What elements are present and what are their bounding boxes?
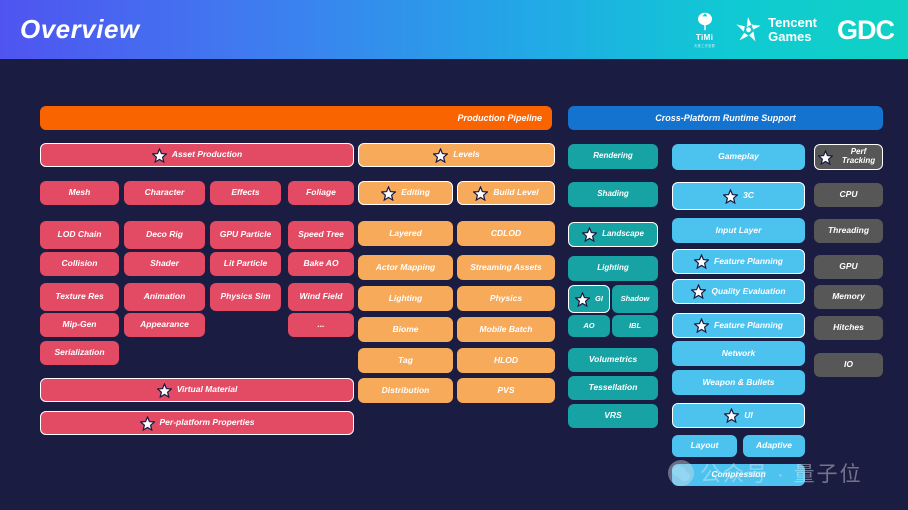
asset-node-character[interactable]: Character <box>124 181 205 205</box>
tencent-pinwheel-icon <box>735 15 763 45</box>
gameplay-node-adaptive-label: Adaptive <box>756 441 792 451</box>
asset-node-mesh[interactable]: Mesh <box>40 181 119 205</box>
star-icon <box>818 150 833 165</box>
gameplay-node-compression-label: Compression <box>711 470 765 480</box>
rendering-node-volumetrics[interactable]: Volumetrics <box>568 348 658 372</box>
tencent-line-2: Games <box>768 30 817 44</box>
slide-canvas: Overview TiMi 天美工作室群 <box>0 0 908 510</box>
perf-node-threading-label: Threading <box>828 226 869 236</box>
gameplay-node-compression[interactable]: Compression <box>672 464 805 486</box>
star-icon <box>157 383 172 398</box>
asset-node-collision-label: Collision <box>62 259 98 269</box>
gameplay-node-layout-label: Layout <box>691 441 719 451</box>
levels-node-tag[interactable]: Tag <box>358 348 453 373</box>
star-icon <box>723 189 738 204</box>
asset-node-bake-ao-label: Bake AO <box>303 259 338 269</box>
levels-node-distribution[interactable]: Distribution <box>358 378 453 403</box>
asset-node-lod-chain-label: LOD Chain <box>58 230 102 240</box>
timi-sublabel: 天美工作室群 <box>694 43 715 48</box>
star-icon <box>694 254 709 269</box>
perf-node-threading[interactable]: Threading <box>814 219 883 243</box>
perf-node-gpu[interactable]: GPU <box>814 255 883 279</box>
pipeline-footer-per-platform-properties[interactable]: Per-platform Properties <box>40 411 354 435</box>
rendering-node-vrs-label: VRS <box>604 411 621 421</box>
timi-logo: TiMi 天美工作室群 <box>694 12 715 48</box>
star-icon <box>433 148 448 163</box>
gameplay-node-ui-8[interactable]: UI <box>672 403 805 428</box>
levels-node-cdlod-label: CDLOD <box>491 229 521 239</box>
asset-node-shader-label: Shader <box>150 259 179 269</box>
asset-node-lit-particle-label: Lit Particle <box>224 259 267 269</box>
asset-node-wind-field[interactable]: Wind Field <box>288 283 354 311</box>
perf-tracking-header-label: Perf Tracking <box>838 148 879 166</box>
levels-header-label: Levels <box>453 150 479 160</box>
logo-row: TiMi 天美工作室群 Tencent Games <box>694 8 894 52</box>
perf-node-io-label: IO <box>844 360 853 370</box>
levels-header[interactable]: Levels <box>358 143 555 167</box>
levels-node-biome-label: Biome <box>393 325 419 335</box>
asset-node-effects-label: Effects <box>231 188 259 198</box>
gameplay-node-layout[interactable]: Layout <box>672 435 737 457</box>
levels-node-streaming-assets-label: Streaming Assets <box>470 263 542 273</box>
rendering-node-landscape-label: Landscape <box>602 230 644 239</box>
asset-node-mip-gen[interactable]: Mip-Gen <box>40 313 119 337</box>
gameplay-node-input-layer-2[interactable]: Input Layer <box>672 218 805 243</box>
gameplay-node-feature-planning-5-label: Feature Planning <box>714 321 783 331</box>
levels-node-streaming-assets[interactable]: Streaming Assets <box>457 255 555 280</box>
levels-node-hlod-label: HLOD <box>494 356 518 366</box>
levels-node-pvs-label: PVS <box>497 386 514 396</box>
asset-node-speed-tree-label: Speed Tree <box>298 230 344 240</box>
asset-node-foliage-label: Foliage <box>306 188 336 198</box>
gdc-logo: GDC <box>837 15 894 46</box>
rendering-node-tessellation-label: Tessellation <box>589 383 638 393</box>
rendering-node-ao-label: AO <box>583 322 594 330</box>
tencent-games-wordmark: Tencent Games <box>768 16 817 43</box>
page-title: Overview <box>20 14 140 45</box>
asset-node-serialization[interactable]: Serialization <box>40 341 119 365</box>
pipeline-footer-virtual-material[interactable]: Virtual Material <box>40 378 354 402</box>
rendering-node-volumetrics-label: Volumetrics <box>589 355 637 365</box>
levels-node-biome[interactable]: Biome <box>358 317 453 342</box>
production-pipeline-header: Production Pipeline <box>40 106 552 130</box>
rendering-node-lighting-label: Lighting <box>597 264 629 273</box>
asset-node-physics-sim[interactable]: Physics Sim <box>210 283 281 311</box>
levels-node-physics[interactable]: Physics <box>457 286 555 311</box>
perf-node-memory-label: Memory <box>832 292 865 302</box>
gameplay-node-gameplay-0[interactable]: Gameplay <box>672 144 805 170</box>
asset-node-lod-chain[interactable]: LOD Chain <box>40 221 119 249</box>
star-icon <box>691 284 706 299</box>
asset-node-animation-label: Animation <box>144 292 186 302</box>
perf-node-hitches[interactable]: Hitches <box>814 316 883 340</box>
rendering-node-rendering-label: Rendering <box>593 152 633 161</box>
star-icon <box>575 292 590 307</box>
slide-header: Overview TiMi 天美工作室群 <box>0 0 908 59</box>
star-icon <box>140 416 155 431</box>
levels-subheader-editing[interactable]: Editing <box>358 181 453 205</box>
asset-node-character-label: Character <box>145 188 185 198</box>
asset-node-node-label: ... <box>317 320 324 330</box>
perf-node-cpu-label: CPU <box>840 190 858 200</box>
pipeline-footer-virtual-material-label: Virtual Material <box>177 385 238 395</box>
tencent-line-1: Tencent <box>768 16 817 30</box>
asset-node-deco-rig-label: Deco Rig <box>146 230 183 240</box>
gameplay-node-weapon-bullets-7[interactable]: Weapon & Bullets <box>672 370 805 395</box>
gdc-label: GDC <box>837 15 894 46</box>
levels-node-mobile-batch[interactable]: Mobile Batch <box>457 317 555 342</box>
rendering-node-gi-label: GI <box>595 295 603 303</box>
levels-node-tag-label: Tag <box>398 356 413 366</box>
asset-node-collision[interactable]: Collision <box>40 252 119 276</box>
timi-label: TiMi <box>696 33 713 42</box>
rendering-node-rendering[interactable]: Rendering <box>568 144 658 169</box>
cross-platform-header: Cross-Platform Runtime Support <box>568 106 883 130</box>
asset-node-serialization-label: Serialization <box>54 348 104 358</box>
asset-node-speed-tree[interactable]: Speed Tree <box>288 221 354 249</box>
levels-node-lighting-label: Lighting <box>389 294 423 304</box>
gameplay-node-weapon-bullets-7-label: Weapon & Bullets <box>702 378 774 388</box>
rendering-node-ao[interactable]: AO <box>568 315 610 337</box>
perf-node-gpu-label: GPU <box>839 262 857 272</box>
asset-node-appearance-label: Appearance <box>140 320 189 330</box>
levels-node-lighting[interactable]: Lighting <box>358 286 453 311</box>
rendering-node-shading-label: Shading <box>597 190 629 199</box>
rendering-node-gi[interactable]: GI <box>568 285 610 313</box>
gameplay-node-network-6[interactable]: Network <box>672 341 805 366</box>
cross-platform-header-label: Cross-Platform Runtime Support <box>655 113 796 123</box>
star-icon <box>724 408 739 423</box>
levels-subheader-build-level-label: Build Level <box>493 188 538 198</box>
levels-subheader-build-level[interactable]: Build Level <box>457 181 555 205</box>
asset-node-wind-field-label: Wind Field <box>300 292 343 302</box>
star-icon <box>473 186 488 201</box>
gameplay-node-feature-planning-3[interactable]: Feature Planning <box>672 249 805 274</box>
gameplay-node-network-6-label: Network <box>722 349 756 359</box>
asset-node-animation[interactable]: Animation <box>124 283 205 311</box>
asset-node-mip-gen-label: Mip-Gen <box>63 320 97 330</box>
production-pipeline-header-label: Production Pipeline <box>457 113 542 123</box>
rendering-node-ibl[interactable]: IBL <box>612 315 658 337</box>
levels-subheader-editing-label: Editing <box>401 188 430 198</box>
levels-node-distribution-label: Distribution <box>382 386 430 396</box>
asset-production-header-label: Asset Production <box>172 150 242 160</box>
asset-node-node[interactable]: ... <box>288 313 354 337</box>
gameplay-node-adaptive[interactable]: Adaptive <box>743 435 805 457</box>
asset-node-appearance[interactable]: Appearance <box>124 313 205 337</box>
levels-node-layered[interactable]: Layered <box>358 221 453 246</box>
gameplay-node-feature-planning-5[interactable]: Feature Planning <box>672 313 805 338</box>
asset-node-bake-ao[interactable]: Bake AO <box>288 252 354 276</box>
gameplay-node-input-layer-2-label: Input Layer <box>716 226 762 236</box>
asset-node-foliage[interactable]: Foliage <box>288 181 354 205</box>
gameplay-node-quality-evaluation-4[interactable]: Quality Evaluation <box>672 279 805 304</box>
rendering-node-ibl-label: IBL <box>629 322 641 330</box>
asset-node-texture-res[interactable]: Texture Res <box>40 283 119 311</box>
rendering-node-shadow-label: Shadow <box>621 295 650 303</box>
timi-tree-icon <box>696 12 714 32</box>
gameplay-node-ui-8-label: UI <box>744 411 753 421</box>
star-icon <box>381 186 396 201</box>
asset-node-mesh-label: Mesh <box>69 188 91 198</box>
rendering-node-shading[interactable]: Shading <box>568 182 658 207</box>
gameplay-node-quality-evaluation-4-label: Quality Evaluation <box>711 287 785 297</box>
asset-node-texture-res-label: Texture Res <box>55 292 103 302</box>
asset-production-header[interactable]: Asset Production <box>40 143 354 167</box>
asset-node-effects[interactable]: Effects <box>210 181 281 205</box>
asset-node-physics-sim-label: Physics Sim <box>220 292 270 302</box>
star-icon <box>694 318 709 333</box>
levels-node-pvs[interactable]: PVS <box>457 378 555 403</box>
levels-node-physics-label: Physics <box>490 294 522 304</box>
levels-node-mobile-batch-label: Mobile Batch <box>480 325 533 335</box>
asset-node-lit-particle[interactable]: Lit Particle <box>210 252 281 276</box>
rendering-node-landscape[interactable]: Landscape <box>568 222 658 247</box>
gameplay-node-gameplay-0-label: Gameplay <box>718 152 759 162</box>
asset-node-shader[interactable]: Shader <box>124 252 205 276</box>
levels-node-cdlod[interactable]: CDLOD <box>457 221 555 246</box>
star-icon <box>582 227 597 242</box>
perf-node-cpu[interactable]: CPU <box>814 183 883 207</box>
levels-node-layered-label: Layered <box>389 229 422 239</box>
rendering-node-vrs[interactable]: VRS <box>568 404 658 428</box>
levels-node-actor-mapping-label: Actor Mapping <box>376 263 436 273</box>
gameplay-node-3c-1-label: 3C <box>743 191 754 201</box>
gameplay-node-3c-1[interactable]: 3C <box>672 182 805 210</box>
perf-tracking-header[interactable]: Perf Tracking <box>814 144 883 170</box>
asset-node-deco-rig[interactable]: Deco Rig <box>124 221 205 249</box>
star-icon <box>152 148 167 163</box>
asset-node-gpu-particle[interactable]: GPU Particle <box>210 221 281 249</box>
tencent-games-logo: Tencent Games <box>735 15 817 45</box>
rendering-node-tessellation[interactable]: Tessellation <box>568 376 658 400</box>
perf-node-memory[interactable]: Memory <box>814 285 883 309</box>
rendering-node-shadow[interactable]: Shadow <box>612 285 658 313</box>
gameplay-node-feature-planning-3-label: Feature Planning <box>714 257 783 267</box>
perf-node-io[interactable]: IO <box>814 353 883 377</box>
perf-node-hitches-label: Hitches <box>833 323 864 333</box>
levels-node-actor-mapping[interactable]: Actor Mapping <box>358 255 453 280</box>
pipeline-footer-per-platform-properties-label: Per-platform Properties <box>160 418 255 428</box>
levels-node-hlod[interactable]: HLOD <box>457 348 555 373</box>
asset-node-gpu-particle-label: GPU Particle <box>220 230 272 240</box>
rendering-node-lighting[interactable]: Lighting <box>568 256 658 281</box>
